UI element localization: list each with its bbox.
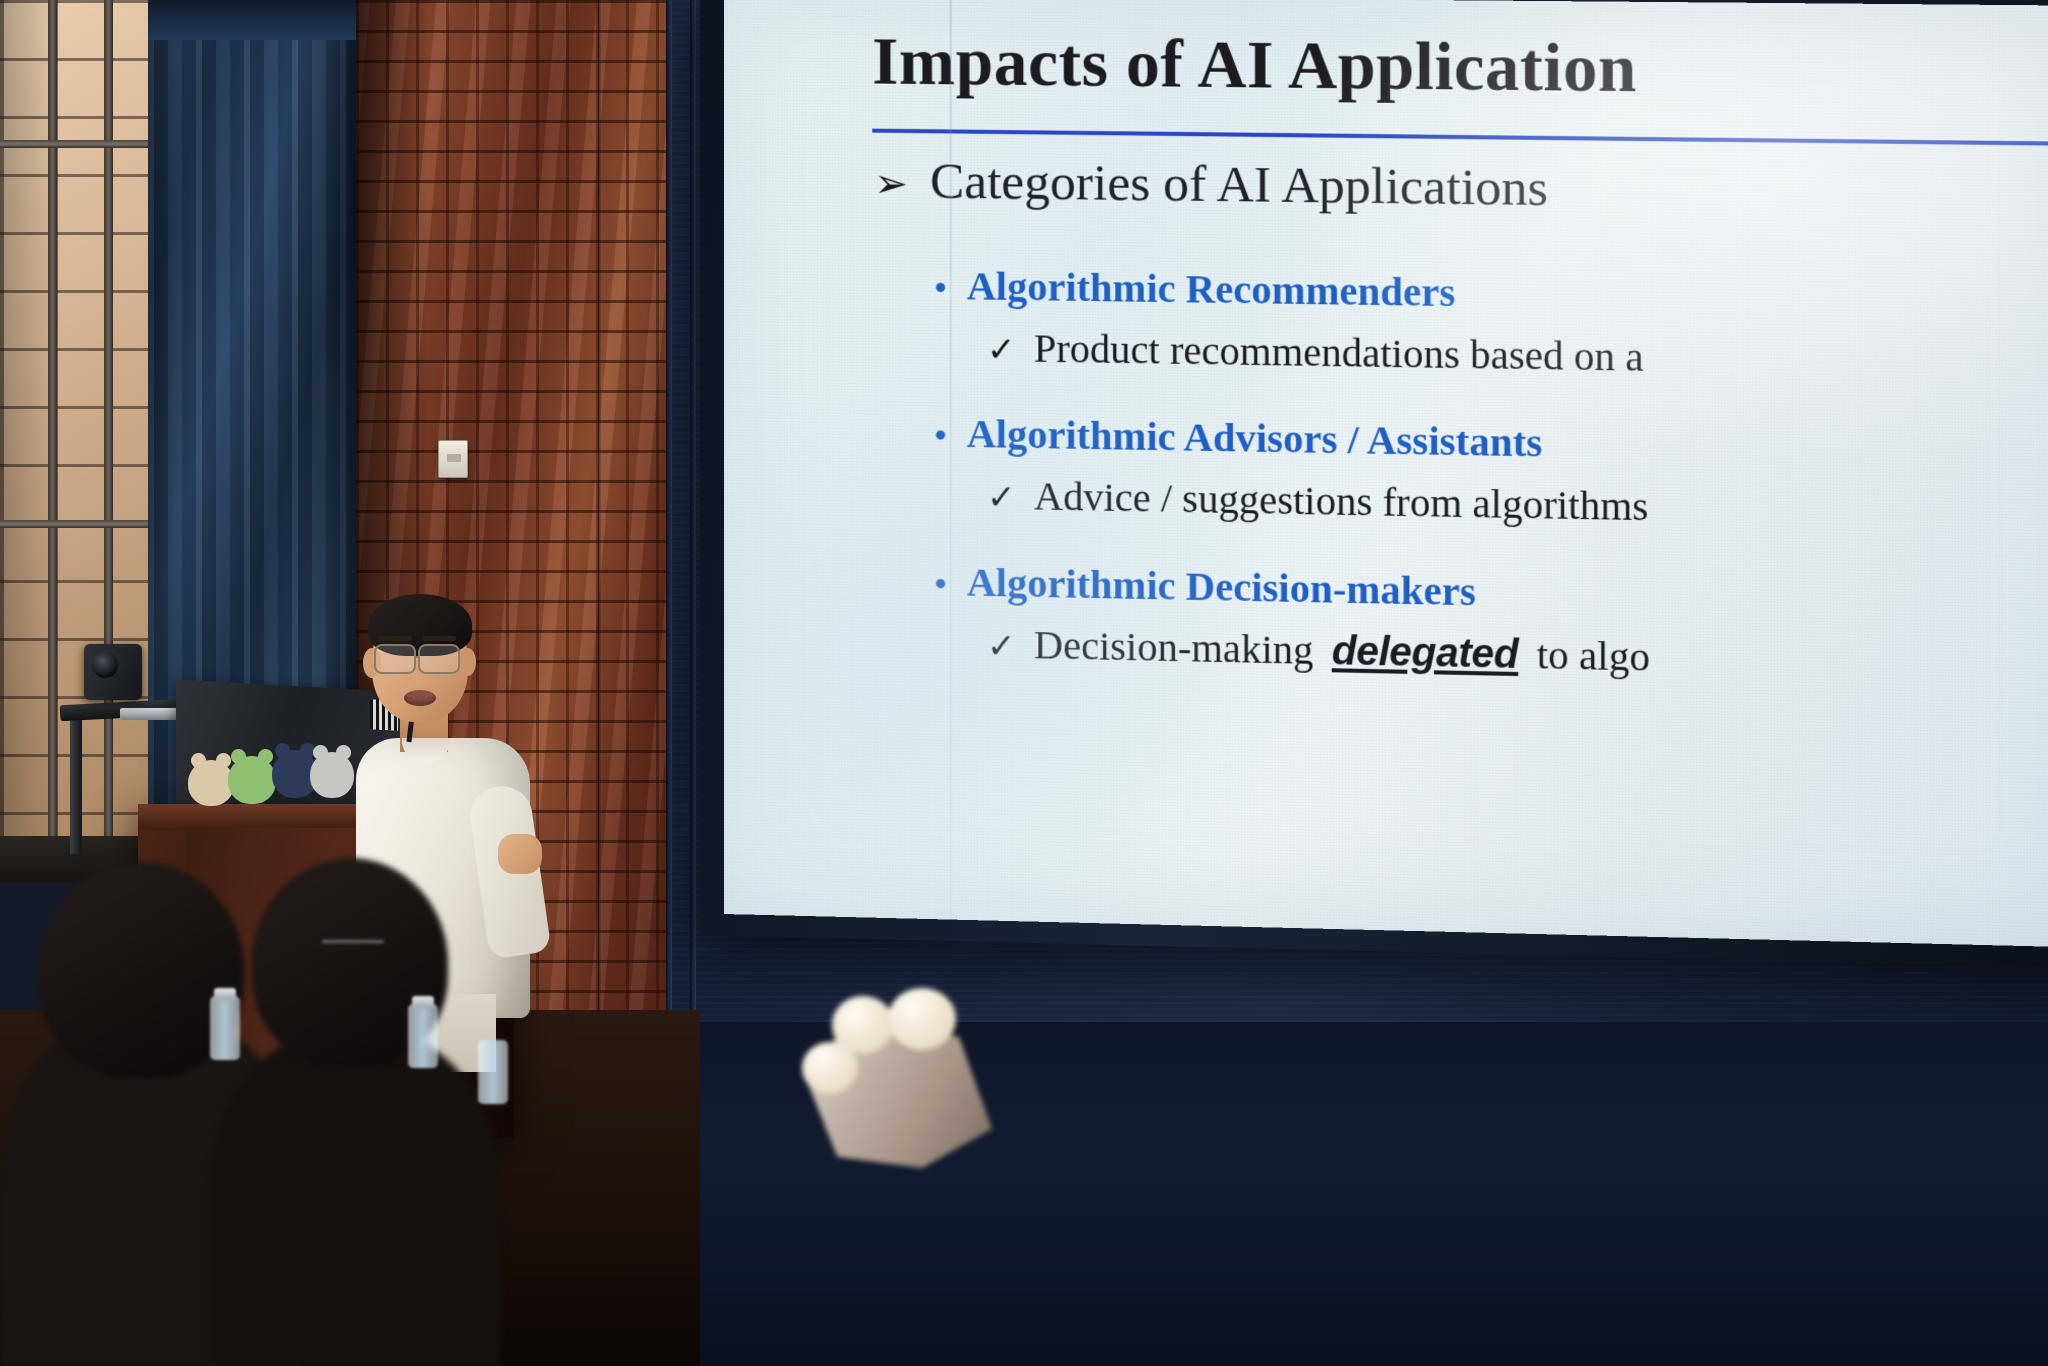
audience-eyeglasses-icon — [322, 940, 384, 943]
table-water-bottle[interactable] — [408, 1004, 438, 1068]
bouquet-flower — [802, 1042, 858, 1094]
eyeglasses-bridge-icon — [416, 656, 420, 658]
slide-group-advisors: • Algorithmic Advisors / Assistants ✓ Ad… — [935, 409, 1649, 530]
slide-title: Impacts of AI Application — [872, 23, 1637, 108]
wood-wall-seam — [598, 0, 602, 1010]
presenter-eyebrow-left — [378, 636, 412, 641]
screen-crease — [950, 0, 952, 920]
check-bullet-icon: ✓ — [987, 626, 1016, 667]
plush-toy-grey[interactable] — [310, 752, 354, 798]
slide-group-decision-makers: • Algorithmic Decision-makers ✓ Decision… — [935, 558, 1650, 681]
plush-toy-green[interactable] — [228, 756, 276, 804]
dot-bullet-icon: • — [935, 272, 947, 306]
title-underline-rule — [872, 129, 2048, 147]
group-subline-text: Product recommendations based on a — [1034, 324, 1644, 380]
slide-group-recommenders: • Algorithmic Recommenders ✓ Product rec… — [935, 262, 1644, 381]
window-transom — [0, 520, 152, 528]
group-subline: ✓ Advice / suggestions from algorithms — [987, 471, 1648, 530]
dot-bullet-icon: • — [935, 419, 947, 453]
table-water-bottle[interactable] — [210, 996, 240, 1060]
subline-text-before: Decision-making — [1034, 621, 1314, 674]
curtain-rail — [148, 0, 360, 40]
presenter-hand — [498, 834, 542, 874]
bouquet-flower — [888, 988, 956, 1050]
slide-level1-bullet: ➢ Categories of AI Applications — [874, 152, 1548, 218]
window-mullion — [104, 0, 113, 880]
eyeglasses-lens-right-icon — [418, 644, 460, 674]
eyeglasses-lens-left-icon — [374, 644, 416, 674]
group-heading-text: Algorithmic Advisors / Assistants — [967, 410, 1543, 467]
group-heading: • Algorithmic Recommenders — [935, 262, 1644, 319]
camera-lens-icon — [92, 652, 118, 678]
table-bottle-cap — [214, 988, 236, 1000]
check-bullet-icon: ✓ — [987, 330, 1016, 371]
wall-divider — [690, 0, 696, 1050]
wall-outlet[interactable] — [438, 440, 468, 478]
dot-bullet-icon: • — [935, 568, 947, 602]
slide-level1-text: Categories of AI Applications — [930, 152, 1548, 218]
presenter-eyebrow-right — [422, 636, 456, 641]
slide-content: Impacts of AI Application ➢ Categories o… — [724, 0, 2048, 948]
arrow-bullet-icon: ➢ — [874, 164, 908, 205]
subline-text-after: to algo — [1537, 631, 1650, 681]
presenter-mouth — [404, 690, 436, 706]
group-subline: ✓ Product recommendations based on a — [987, 324, 1644, 381]
wall-divider — [666, 0, 672, 1050]
conference-scene: Impacts of AI Application ➢ Categories o… — [0, 0, 2048, 1366]
subline-emphasis-delegated: delegated — [1332, 629, 1519, 678]
window-mullion — [48, 0, 57, 880]
tripod-pole — [70, 714, 82, 854]
projected-slide: Impacts of AI Application ➢ Categories o… — [724, 0, 2048, 948]
group-subline: ✓ Decision-making delegated to algo — [987, 620, 1650, 681]
window-transom — [0, 140, 152, 148]
group-heading-text: Algorithmic Decision-makers — [967, 558, 1476, 615]
group-subline-text: Advice / suggestions from algorithms — [1034, 472, 1649, 530]
group-heading: • Algorithmic Advisors / Assistants — [935, 409, 1649, 468]
table-bottle-cap — [412, 996, 434, 1008]
group-heading: • Algorithmic Decision-makers — [935, 558, 1650, 619]
table-water-bottle[interactable] — [478, 1040, 508, 1104]
flower-bouquet — [792, 988, 1002, 1168]
check-bullet-icon: ✓ — [987, 477, 1016, 518]
group-heading-text: Algorithmic Recommenders — [967, 262, 1456, 316]
audience-shoulders-right — [210, 1028, 500, 1366]
presenter-ear-right — [460, 648, 476, 676]
